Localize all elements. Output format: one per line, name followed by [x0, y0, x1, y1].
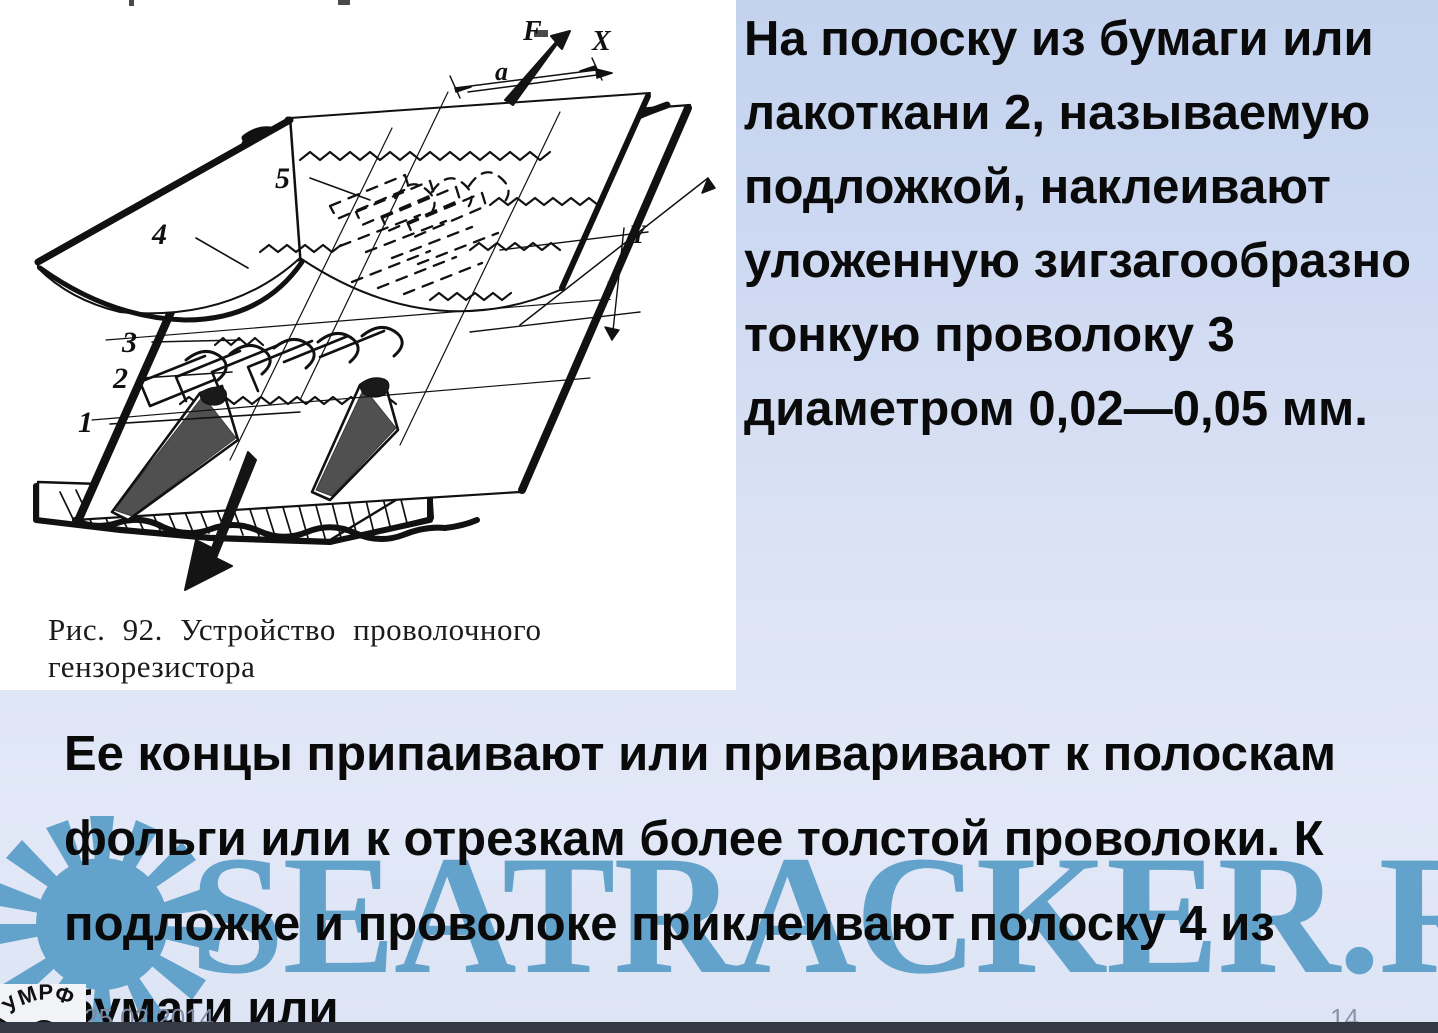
- body-text-right: На полоску из бумаги или лакоткани 2, на…: [736, 2, 1438, 446]
- footer-bar: [0, 1022, 1438, 1033]
- label-axis-x: X: [591, 26, 612, 57]
- label-part-1: 1: [78, 406, 93, 439]
- label-dim-a: a: [495, 57, 508, 86]
- label-part-2: 2: [112, 362, 128, 395]
- figure-caption: Рис. 92. Устройство проволочного гензоре…: [48, 612, 736, 685]
- label-part-4: 4: [151, 218, 167, 251]
- label-part-3: 3: [121, 326, 137, 359]
- presentation-slide: F X Y a l 5 4 3 2 1 Рис. 92. Устройство …: [0, 0, 1438, 1033]
- label-force: F: [522, 16, 542, 47]
- label-axis-y: Y: [630, 220, 648, 249]
- strain-gauge-diagram: F X Y a l 5 4 3 2 1: [0, 0, 736, 618]
- figure-panel: F X Y a l 5 4 3 2 1 Рис. 92. Устройство …: [0, 0, 736, 690]
- label-part-5: 5: [275, 162, 290, 195]
- figure-caption-line-1: Рис. 92. Устройство проволочного: [48, 612, 736, 649]
- body-text-lower: Ее концы припаивают или приваривают к по…: [64, 712, 1404, 1033]
- label-dim-l: l: [605, 277, 613, 306]
- figure-caption-line-2: гензорезистора: [48, 649, 736, 686]
